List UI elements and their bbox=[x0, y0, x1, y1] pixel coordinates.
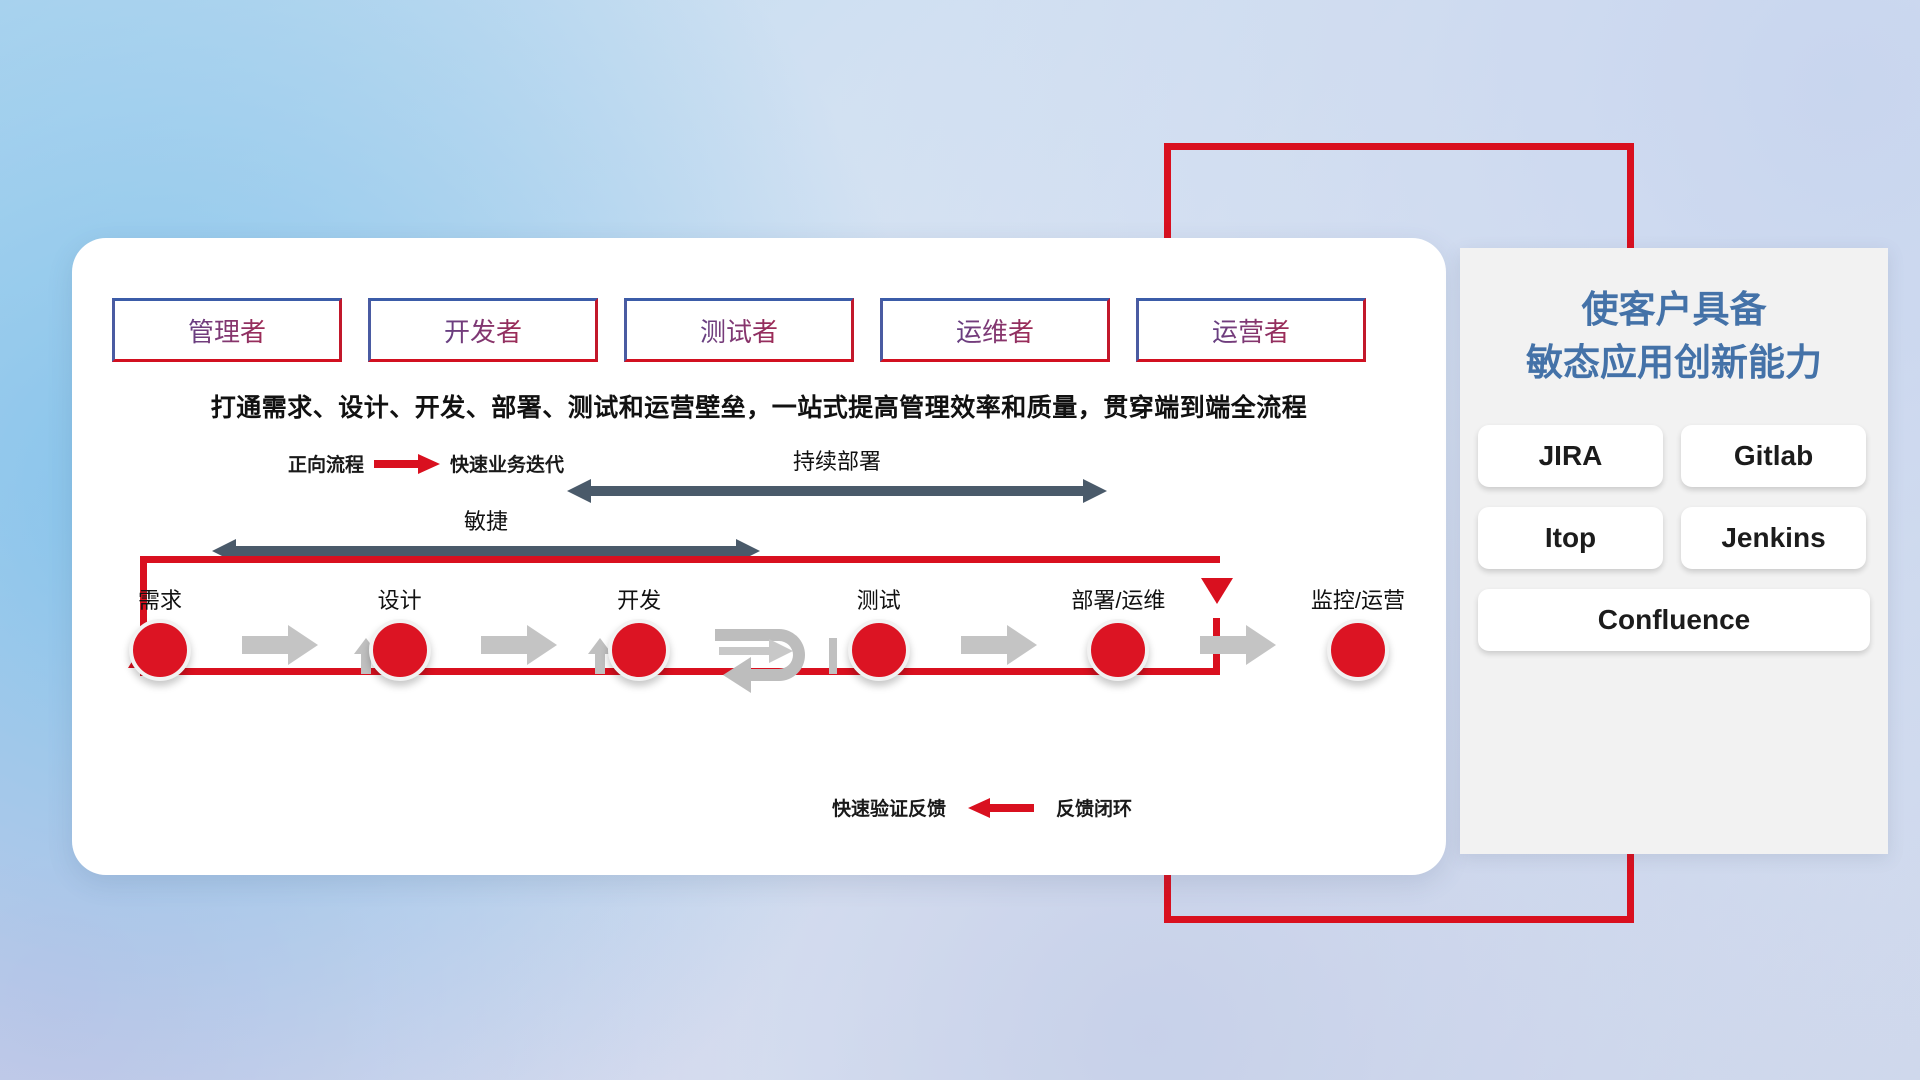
pipeline-stage-monitor-operate[interactable]: 监控/运营 bbox=[1310, 583, 1406, 681]
devops-flow-card: 管理者 开发者 测试者 运维者 运营者 打通需求、设计、开发、部署、测试和运营壁… bbox=[72, 238, 1446, 875]
arrow-right-icon bbox=[481, 625, 557, 665]
stage-dot bbox=[1327, 619, 1389, 681]
tool-chip-jira[interactable]: JIRA bbox=[1478, 425, 1663, 487]
arrow-left-icon bbox=[968, 798, 1034, 818]
headline-line-1: 使客户具备 bbox=[1474, 284, 1874, 337]
legend-feedback-right-label: 反馈闭环 bbox=[1056, 794, 1132, 821]
legend-forward-left-label: 正向流程 bbox=[288, 450, 364, 477]
role-card-tester[interactable]: 测试者 bbox=[624, 298, 854, 362]
pipeline-stage-deploy-ops[interactable]: 部署/运维 bbox=[1070, 583, 1166, 681]
stage-label: 开发 bbox=[617, 583, 661, 615]
stage-dot bbox=[129, 619, 191, 681]
stage-dot bbox=[608, 619, 670, 681]
loop-back-icon bbox=[711, 625, 807, 697]
span-label-agile: 敏捷 bbox=[212, 504, 760, 536]
arrow-right-icon bbox=[1200, 625, 1276, 665]
pipeline-connector-1 bbox=[208, 583, 352, 665]
stage-dot bbox=[369, 619, 431, 681]
tool-chip-jenkins[interactable]: Jenkins bbox=[1681, 507, 1866, 569]
pipeline: 需求 设计 开发 测试 bbox=[112, 583, 1406, 697]
role-card-ops[interactable]: 运维者 bbox=[880, 298, 1110, 362]
pipeline-connector-4 bbox=[927, 583, 1071, 665]
connector-bracket-top bbox=[1164, 143, 1634, 150]
role-list: 管理者 开发者 测试者 运维者 运营者 bbox=[112, 298, 1366, 362]
tool-chip-itop[interactable]: Itop bbox=[1478, 507, 1663, 569]
pipeline-connector-5 bbox=[1166, 583, 1310, 665]
connector-bracket-left-up bbox=[1164, 143, 1171, 253]
role-card-operator[interactable]: 运营者 bbox=[1136, 298, 1366, 362]
tool-chip-list: JIRA Gitlab Itop Jenkins Confluence bbox=[1460, 399, 1888, 651]
pipeline-stage-test[interactable]: 测试 bbox=[831, 583, 927, 681]
pipeline-connector-loop bbox=[687, 583, 831, 697]
role-card-manager[interactable]: 管理者 bbox=[112, 298, 342, 362]
stage-label: 需求 bbox=[138, 583, 182, 615]
arrow-right-icon bbox=[961, 625, 1037, 665]
legend-forward-flow: 正向流程 快速业务迭代 bbox=[288, 450, 564, 477]
stage-label: 设计 bbox=[378, 583, 422, 615]
connector-bracket-bottom bbox=[1164, 916, 1634, 923]
arrow-right-icon bbox=[374, 454, 440, 474]
tool-chip-confluence[interactable]: Confluence bbox=[1478, 589, 1870, 651]
outcome-panel: 使客户具备 敏态应用创新能力 JIRA Gitlab Itop Jenkins … bbox=[1460, 248, 1888, 854]
pipeline-stage-requirements[interactable]: 需求 bbox=[112, 583, 208, 681]
role-card-developer[interactable]: 开发者 bbox=[368, 298, 598, 362]
pipeline-stage-design[interactable]: 设计 bbox=[352, 583, 448, 681]
legend-feedback-left-label: 快速验证反馈 bbox=[832, 794, 946, 821]
tool-chip-gitlab[interactable]: Gitlab bbox=[1681, 425, 1866, 487]
stage-label: 部署/运维 bbox=[1071, 583, 1165, 615]
stage-label: 监控/运营 bbox=[1311, 583, 1405, 615]
stage-dot bbox=[848, 619, 910, 681]
legend-forward-right-label: 快速业务迭代 bbox=[450, 450, 564, 477]
outcome-panel-headline: 使客户具备 敏态应用创新能力 bbox=[1460, 248, 1888, 399]
pipeline-connector-2 bbox=[448, 583, 592, 665]
card-subtitle: 打通需求、设计、开发、部署、测试和运营壁垒，一站式提高管理效率和质量，贯穿端到端… bbox=[72, 388, 1446, 424]
feedback-rail-top bbox=[140, 556, 1220, 563]
stage-label: 测试 bbox=[857, 583, 901, 615]
stage-dot bbox=[1087, 619, 1149, 681]
arrow-right-icon bbox=[242, 625, 318, 665]
span-label-continuous-deployment: 持续部署 bbox=[567, 444, 1107, 476]
legend-feedback-loop: 快速验证反馈 反馈闭环 bbox=[832, 794, 1132, 821]
pipeline-stage-development[interactable]: 开发 bbox=[591, 583, 687, 681]
headline-line-2: 敏态应用创新能力 bbox=[1474, 337, 1874, 390]
double-arrow-icon bbox=[567, 478, 1107, 504]
span-continuous-deployment: 持续部署 bbox=[567, 444, 1107, 509]
